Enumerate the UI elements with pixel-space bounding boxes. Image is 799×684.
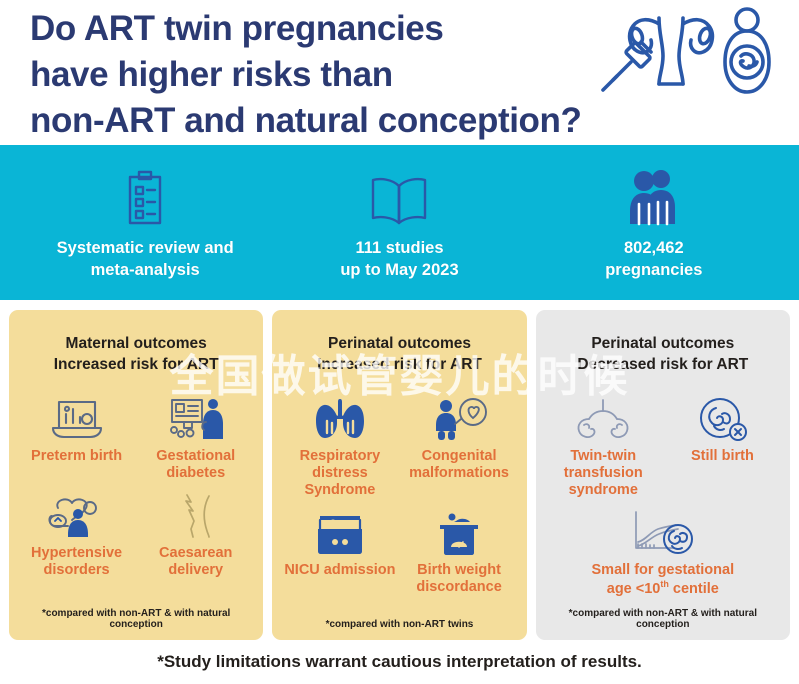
panel-title: Maternal outcomes Increased risk for ART xyxy=(17,334,255,375)
outcome-item-still-birth: Still birth xyxy=(663,391,782,505)
blood-pressure-pregnant-icon xyxy=(19,492,134,540)
panel-perinatal-decreased: Perinatal outcomes Decreased risk for AR… xyxy=(536,310,790,640)
panel-item-grid: Twin-twin transfusion syndrome Still bir… xyxy=(544,381,782,608)
outcome-label: NICU admission xyxy=(282,562,397,579)
growth-chart-fetus-icon xyxy=(546,509,780,557)
laptop-chart-icon xyxy=(19,395,134,443)
outcome-label: Respiratory distress Syndrome xyxy=(282,448,397,499)
outcome-label: Birth weight discordance xyxy=(401,562,516,596)
open-book-icon xyxy=(272,164,526,226)
outcome-item-small-for-gestational-age: Small for gestationalage <10th centile xyxy=(544,505,782,604)
panel-item-grid: Respiratory distress Syndrome xyxy=(280,381,518,619)
outcome-item-birth-weight-discordance: Birth weight discordance xyxy=(399,505,518,602)
outcome-label: Caesarean delivery xyxy=(138,545,253,579)
outcome-label: Hypertensive disorders xyxy=(19,545,134,579)
baby-heart-icon xyxy=(401,395,516,443)
glucose-monitor-pregnant-icon xyxy=(138,395,253,443)
outcome-panels-row: Maternal outcomes Increased risk for ART… xyxy=(0,300,799,640)
study-limitations-note: *Study limitations warrant cautious inte… xyxy=(0,640,799,672)
stat-studies-count: 111 studies up to May 2023 xyxy=(272,164,526,280)
outcome-item-hypertensive-disorders: Hypertensive disorders xyxy=(17,488,136,585)
stat-label: 111 studies up to May 2023 xyxy=(272,238,526,280)
incubator-icon xyxy=(282,509,397,557)
header-section: Do ART twin pregnancies have higher risk… xyxy=(0,0,799,145)
stillbirth-icon xyxy=(665,395,780,443)
lungs-icon xyxy=(282,395,397,443)
caesarean-scar-icon xyxy=(138,492,253,540)
stats-band: Systematic review and meta-analysis 111 … xyxy=(0,145,799,300)
twin-fetuses-icon xyxy=(546,395,661,443)
outcome-item-twin-twin-transfusion: Twin-twin transfusion syndrome xyxy=(544,391,663,505)
panel-item-grid: Preterm birth xyxy=(17,381,255,608)
outcome-item-respiratory-distress: Respiratory distress Syndrome xyxy=(280,391,399,505)
outcome-label: Still birth xyxy=(665,448,780,465)
stat-label: 802,462 pregnancies xyxy=(527,238,781,280)
outcome-label: Twin-twin transfusion syndrome xyxy=(546,448,661,499)
panel-perinatal-increased: Perinatal outcomes Increased risk for AR… xyxy=(272,310,526,640)
header-icon-group xyxy=(597,4,777,102)
stat-label: Systematic review and meta-analysis xyxy=(18,238,272,280)
two-people-icon xyxy=(527,164,781,226)
panel-title: Perinatal outcomes Increased risk for AR… xyxy=(280,334,518,375)
panel-maternal-outcomes: Maternal outcomes Increased risk for ART… xyxy=(9,310,263,640)
panel-title: Perinatal outcomes Decreased risk for AR… xyxy=(544,334,782,375)
panel-footnote: *compared with non-ART & with natural co… xyxy=(544,608,782,634)
uterus-syringe-icon xyxy=(597,4,777,102)
stat-pregnancies-count: 802,462 pregnancies xyxy=(527,164,781,280)
panel-footnote: *compared with non-ART twins xyxy=(280,619,518,634)
clipboard-checklist-icon xyxy=(18,164,272,226)
outcome-item-caesarean-delivery: Caesarean delivery xyxy=(136,488,255,585)
outcome-label: Small for gestationalage <10th centile xyxy=(546,562,780,598)
page-title: Do ART twin pregnancies have higher risk… xyxy=(30,6,605,145)
outcome-label: Gestational diabetes xyxy=(138,448,253,482)
stat-systematic-review: Systematic review and meta-analysis xyxy=(18,164,272,280)
outcome-item-gestational-diabetes: Gestational diabetes xyxy=(136,391,255,488)
outcome-label: Congenital malformations xyxy=(401,448,516,482)
baby-scale-icon xyxy=(401,509,516,557)
panel-footnote: *compared with non-ART & with natural co… xyxy=(17,608,255,634)
outcome-item-nicu-admission: NICU admission xyxy=(280,505,399,602)
outcome-item-congenital-malformations: Congenital malformations xyxy=(399,391,518,505)
outcome-label: Preterm birth xyxy=(19,448,134,465)
outcome-item-preterm-birth: Preterm birth xyxy=(17,391,136,488)
